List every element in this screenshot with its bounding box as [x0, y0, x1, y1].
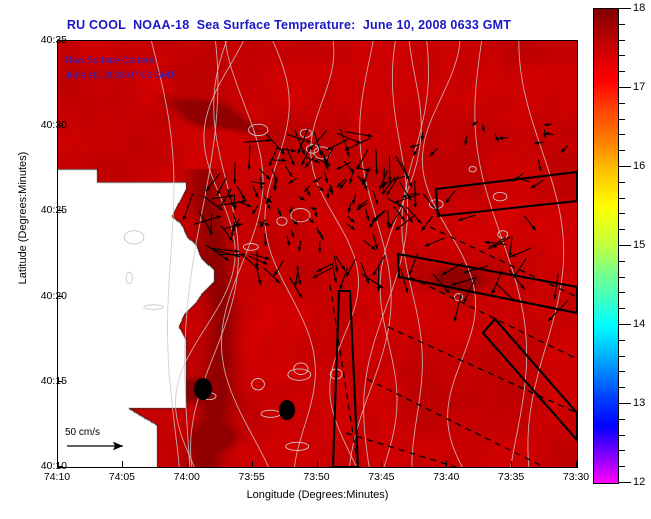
x-tick-label: 73:45: [351, 471, 411, 483]
colorbar-tick-label: 15: [633, 240, 645, 250]
x-tick-mark: [252, 461, 253, 467]
colorbar-minor-tick: [619, 71, 625, 72]
colorbar-tick-mark: [619, 245, 631, 246]
colorbar-minor-tick: [619, 229, 625, 230]
temperature-colorbar[interactable]: [593, 8, 619, 484]
x-tick-mark: [446, 461, 447, 467]
colorbar-minor-tick: [619, 134, 625, 135]
sst-map-plot[interactable]: Raw Surface Current June 10, 2008 07:00 …: [57, 40, 578, 468]
y-tick-mark: [57, 296, 63, 297]
sst-contours: [124, 41, 563, 467]
colorbar-tick-label: 14: [633, 319, 645, 329]
colorbar-tick-mark: [619, 324, 631, 325]
x-tick-mark: [511, 461, 512, 467]
x-tick-label: 74:05: [92, 471, 152, 483]
colorbar-tick-mark: [619, 482, 631, 483]
vector-scale-legend: 50 cm/s: [65, 427, 135, 453]
station-markers: [194, 378, 295, 420]
page-title: RU COOL NOAA-18 Sea Surface Temperature:…: [0, 18, 578, 32]
x-tick-mark: [57, 461, 58, 467]
surface-current-vectors: [183, 122, 568, 322]
x-tick-label: 73:55: [222, 471, 282, 483]
colorbar-minor-tick: [619, 371, 625, 372]
colorbar-minor-tick: [619, 103, 625, 104]
colorbar-minor-tick: [619, 182, 625, 183]
colorbar-minor-tick: [619, 340, 625, 341]
y-tick-mark: [57, 381, 63, 382]
y-axis-label: Latitude (Degrees:Minutes): [17, 133, 29, 303]
y-tick-mark: [57, 40, 63, 41]
colorbar-minor-tick: [619, 356, 625, 357]
colorbar-minor-tick: [619, 292, 625, 293]
colorbar-tick-label: 18: [633, 3, 645, 13]
annotation-line-1: Raw Surface Current: [65, 53, 175, 68]
colorbar-minor-tick: [619, 435, 625, 436]
colorbar-tick-label: 16: [633, 161, 645, 171]
colorbar-tick-mark: [619, 403, 631, 404]
x-tick-mark: [381, 461, 382, 467]
x-tick-mark: [576, 461, 577, 467]
colorbar-tick-label: 12: [633, 477, 645, 487]
colorbar-minor-tick: [619, 308, 625, 309]
y-tick-mark: [57, 210, 63, 211]
colorbar-tick-mark: [619, 166, 631, 167]
x-tick-mark: [317, 461, 318, 467]
current-annotation: Raw Surface Current June 10, 2008 07:00 …: [65, 53, 175, 83]
colorbar-minor-tick: [619, 55, 625, 56]
colorbar-minor-tick: [619, 387, 625, 388]
vector-scale-label: 50 cm/s: [65, 427, 135, 438]
annotation-line-2: June 10, 2008 07:00 GMT: [65, 68, 175, 83]
x-tick-label: 73:40: [416, 471, 476, 483]
dashed-transects: [330, 227, 577, 467]
colorbar-minor-tick: [619, 277, 625, 278]
x-tick-label: 73:35: [481, 471, 541, 483]
colorbar-minor-tick: [619, 40, 625, 41]
colorbar-minor-tick: [619, 150, 625, 151]
x-tick-mark: [187, 461, 188, 467]
colorbar-minor-tick: [619, 119, 625, 120]
x-tick-mark: [122, 461, 123, 467]
x-tick-label: 74:00: [157, 471, 217, 483]
colorbar-tick-mark: [619, 8, 631, 9]
x-tick-label: 73:50: [287, 471, 347, 483]
arrow-right-icon: [65, 439, 135, 453]
colorbar-minor-tick: [619, 198, 625, 199]
map-overlay-layer: [58, 41, 577, 467]
colorbar-minor-tick: [619, 419, 625, 420]
x-tick-label: 74:10: [27, 471, 87, 483]
colorbar-minor-tick: [619, 213, 625, 214]
colorbar-tick-label: 17: [633, 82, 645, 92]
colorbar-minor-tick: [619, 450, 625, 451]
y-tick-mark: [57, 125, 63, 126]
colorbar-tick-label: 13: [633, 398, 645, 408]
colorbar-minor-tick: [619, 24, 625, 25]
colorbar-minor-tick: [619, 261, 625, 262]
x-axis-label: Longitude (Degrees:Minutes): [57, 489, 578, 501]
colorbar-tick-mark: [619, 87, 631, 88]
colorbar-minor-tick: [619, 466, 625, 467]
